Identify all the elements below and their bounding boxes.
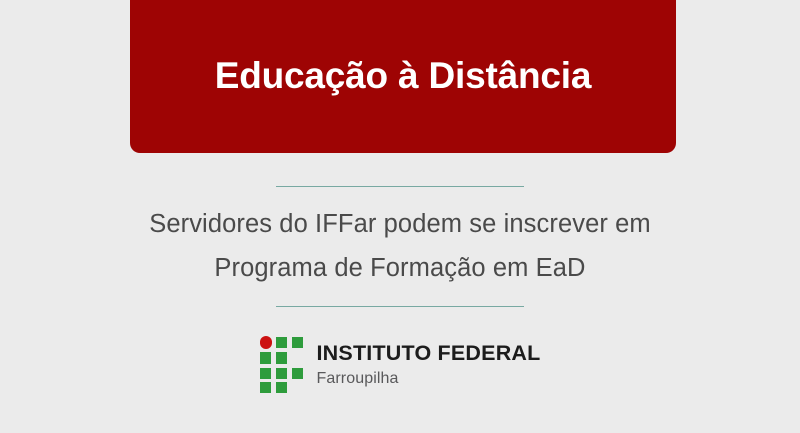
cell-r1c2 bbox=[276, 337, 288, 349]
cell-r4c1 bbox=[260, 382, 272, 394]
subtitle-line-2: Programa de Formação em EaD bbox=[149, 247, 651, 291]
cell-r2c1 bbox=[260, 352, 272, 364]
divider-top bbox=[276, 186, 524, 187]
subtitle-block: Servidores do IFFar podem se inscrever e… bbox=[0, 186, 800, 307]
logo-wordmark: INSTITUTO FEDERAL Farroupilha bbox=[317, 341, 541, 387]
subtitle-text: Servidores do IFFar podem se inscrever e… bbox=[149, 203, 651, 291]
cell-r3c1 bbox=[260, 368, 272, 380]
if-grid-logo-icon bbox=[260, 336, 304, 392]
poster-canvas: Educação à Distância Servidores do IFFar… bbox=[0, 0, 800, 433]
subtitle-line-1: Servidores do IFFar podem se inscrever e… bbox=[149, 203, 651, 247]
logo-name-main: INSTITUTO FEDERAL bbox=[317, 343, 541, 365]
cell-r2c2 bbox=[276, 352, 288, 364]
cell-r4c2 bbox=[276, 382, 288, 394]
institution-logo: INSTITUTO FEDERAL Farroupilha bbox=[0, 336, 800, 392]
title-banner: Educação à Distância bbox=[130, 0, 676, 153]
cell-r1c3 bbox=[292, 337, 304, 349]
dot-r1c1 bbox=[260, 336, 273, 349]
page-title: Educação à Distância bbox=[215, 56, 591, 97]
divider-bottom bbox=[276, 306, 524, 307]
cell-r3c3 bbox=[292, 368, 304, 380]
logo-name-sub: Farroupilha bbox=[317, 371, 541, 387]
logo-inner: INSTITUTO FEDERAL Farroupilha bbox=[260, 336, 541, 392]
cell-r3c2 bbox=[276, 368, 288, 380]
